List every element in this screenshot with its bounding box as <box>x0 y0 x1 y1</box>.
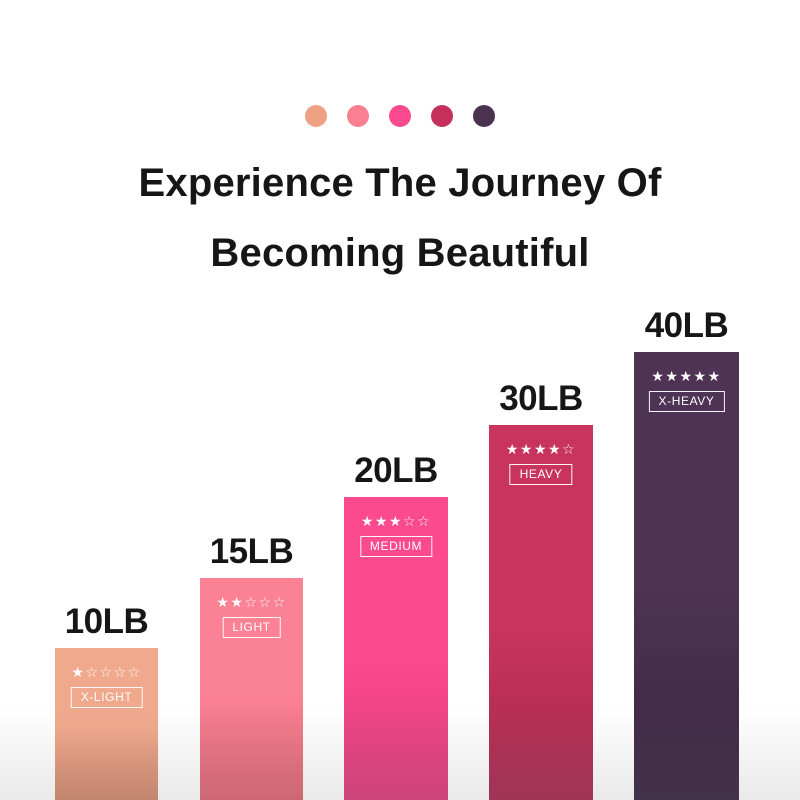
bar-40lb-star-rating: ★★★★★ <box>642 368 730 384</box>
bar-40lb-badge: ★★★★★X-HEAVY <box>642 368 730 412</box>
bar-10lb-star-rating: ★☆☆☆☆ <box>63 664 150 680</box>
bar-10lb[interactable]: ★☆☆☆☆X-LIGHT10LB <box>55 648 158 800</box>
bar-40lb[interactable]: ★★★★★X-HEAVY40LB <box>634 352 739 800</box>
bar-30lb-weight-label: 30LB <box>499 380 583 418</box>
bar-20lb-tier-label: MEDIUM <box>360 536 432 557</box>
bar-30lb[interactable]: ★★★★☆HEAVY30LB <box>489 425 593 800</box>
star-filled-icon: ★ <box>651 368 665 384</box>
bar-15lb-column: ★★☆☆☆LIGHT <box>200 578 303 800</box>
star-filled-icon: ★ <box>534 441 548 457</box>
bar-20lb-weight-label: 20LB <box>354 452 438 490</box>
bar-20lb-badge: ★★★☆☆MEDIUM <box>352 513 439 557</box>
bar-10lb-badge: ★☆☆☆☆X-LIGHT <box>63 664 150 708</box>
bar-15lb[interactable]: ★★☆☆☆LIGHT15LB <box>200 578 303 800</box>
star-filled-icon: ★ <box>679 368 693 384</box>
bar-20lb[interactable]: ★★★☆☆MEDIUM20LB <box>344 497 448 800</box>
bar-40lb-gradient-shade <box>634 594 739 800</box>
star-filled-icon: ★ <box>665 368 679 384</box>
star-empty-icon: ☆ <box>403 513 417 529</box>
bar-15lb-star-rating: ★★☆☆☆ <box>208 594 295 610</box>
bar-20lb-star-rating: ★★★☆☆ <box>352 513 439 529</box>
star-filled-icon: ★ <box>216 594 230 610</box>
star-empty-icon: ☆ <box>114 664 128 680</box>
bar-30lb-column: ★★★★☆HEAVY <box>489 425 593 800</box>
bar-30lb-gradient-shade <box>489 628 593 800</box>
star-filled-icon: ★ <box>71 664 85 680</box>
star-filled-icon: ★ <box>389 513 403 529</box>
bar-10lb-weight-label: 10LB <box>65 603 149 641</box>
bar-10lb-tier-label: X-LIGHT <box>71 687 143 708</box>
bar-30lb-star-rating: ★★★★☆ <box>497 441 584 457</box>
star-filled-icon: ★ <box>361 513 375 529</box>
bar-15lb-gradient-shade <box>200 698 303 800</box>
bar-10lb-column: ★☆☆☆☆X-LIGHT <box>55 648 158 800</box>
star-empty-icon: ☆ <box>417 513 431 529</box>
star-filled-icon: ★ <box>375 513 389 529</box>
bar-15lb-badge: ★★☆☆☆LIGHT <box>208 594 295 638</box>
bar-15lb-weight-label: 15LB <box>210 533 294 571</box>
bar-30lb-tier-label: HEAVY <box>510 464 573 485</box>
bar-40lb-weight-label: 40LB <box>645 307 729 345</box>
star-empty-icon: ☆ <box>562 441 576 457</box>
star-filled-icon: ★ <box>548 441 562 457</box>
infographic-stage: Experience The Journey Of Becoming Beaut… <box>0 0 800 800</box>
star-filled-icon: ★ <box>520 441 534 457</box>
star-empty-icon: ☆ <box>128 664 142 680</box>
star-empty-icon: ☆ <box>259 594 273 610</box>
bar-20lb-column: ★★★☆☆MEDIUM <box>344 497 448 800</box>
bar-15lb-tier-label: LIGHT <box>222 617 280 638</box>
bar-20lb-gradient-shade <box>344 661 448 800</box>
star-empty-icon: ☆ <box>85 664 99 680</box>
star-empty-icon: ☆ <box>99 664 113 680</box>
star-filled-icon: ★ <box>708 368 722 384</box>
star-empty-icon: ☆ <box>244 594 258 610</box>
star-filled-icon: ★ <box>506 441 520 457</box>
star-empty-icon: ☆ <box>273 594 287 610</box>
star-filled-icon: ★ <box>694 368 708 384</box>
star-filled-icon: ★ <box>230 594 244 610</box>
bar-30lb-badge: ★★★★☆HEAVY <box>497 441 584 485</box>
bar-40lb-tier-label: X-HEAVY <box>649 391 725 412</box>
bar-40lb-column: ★★★★★X-HEAVY <box>634 352 739 800</box>
bar-10lb-gradient-shade <box>55 730 158 800</box>
resistance-bar-chart: ★☆☆☆☆X-LIGHT10LB★★☆☆☆LIGHT15LB★★★☆☆MEDIU… <box>0 0 800 800</box>
